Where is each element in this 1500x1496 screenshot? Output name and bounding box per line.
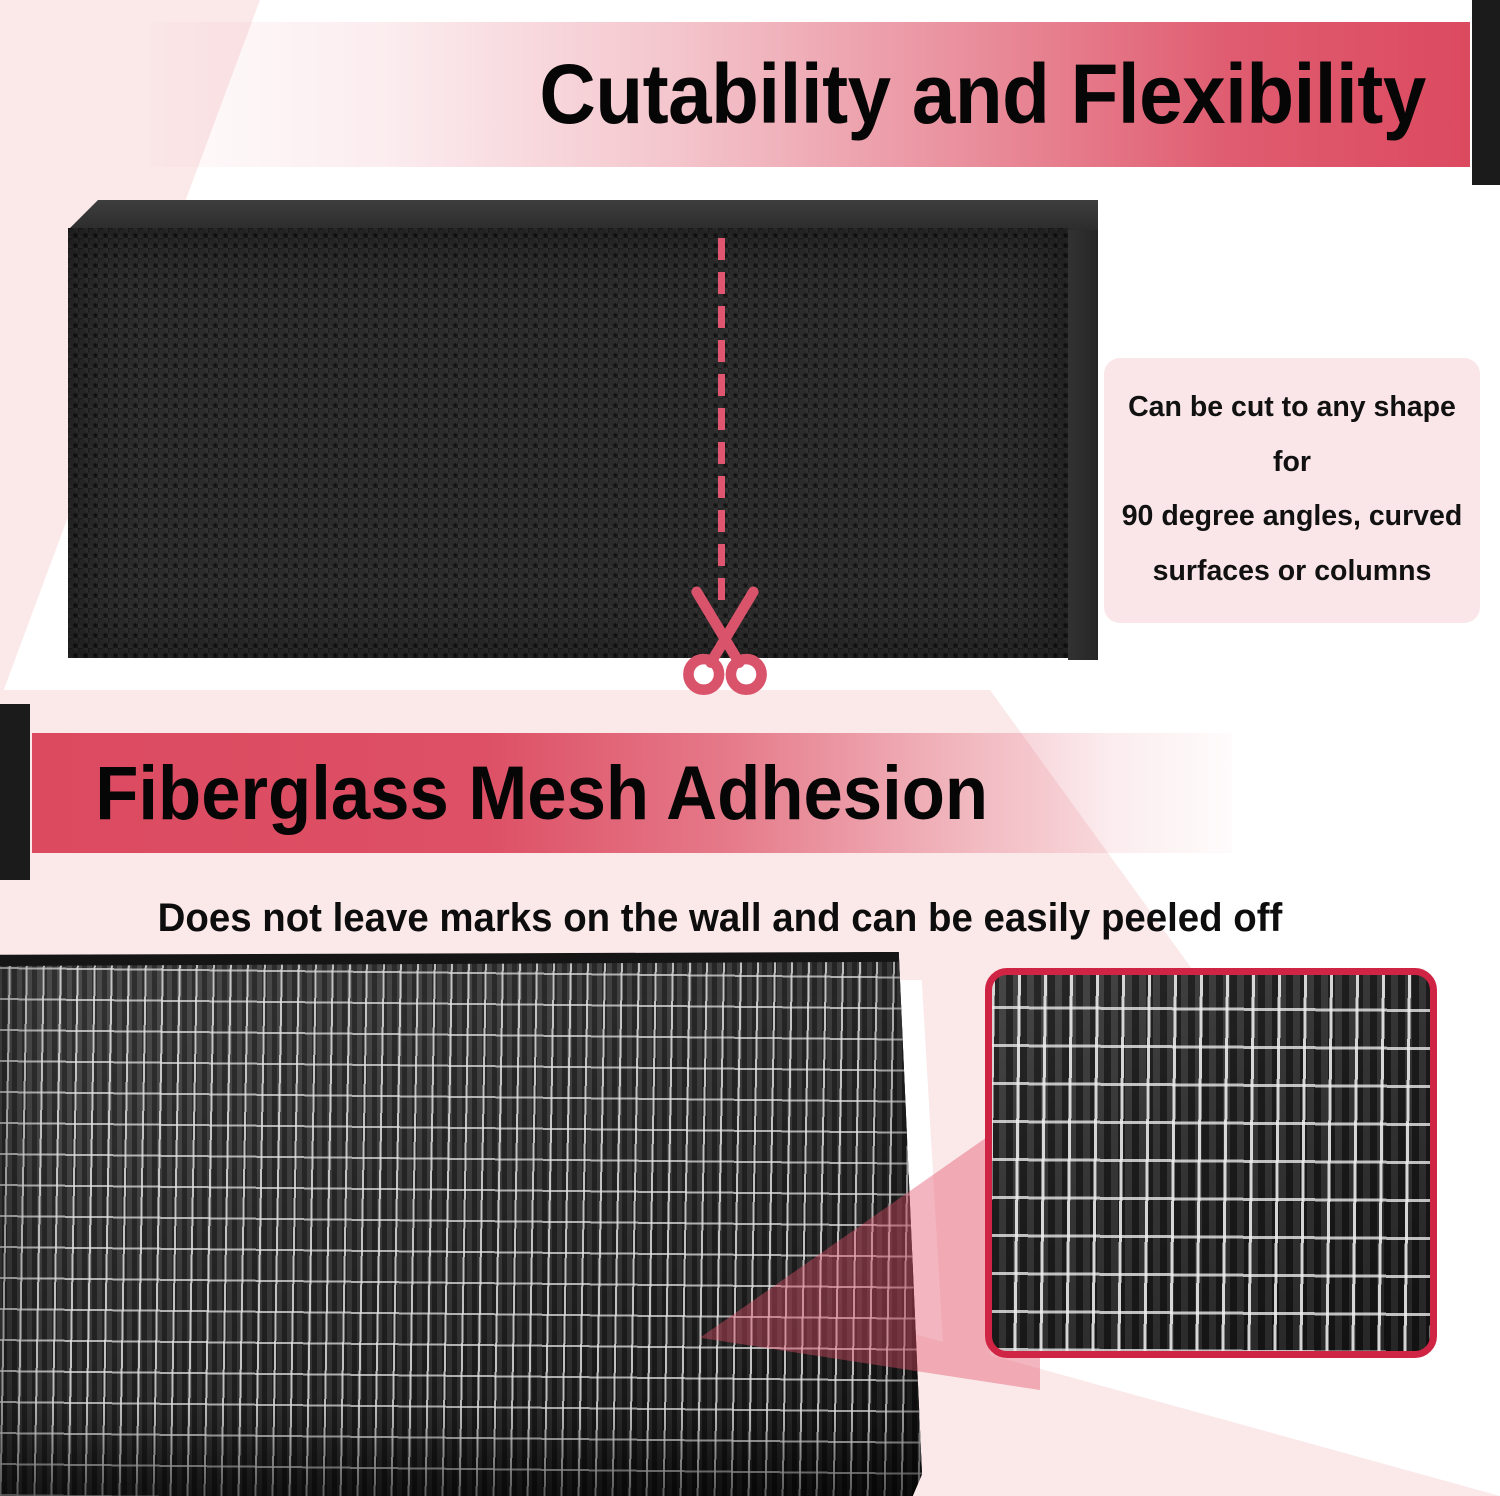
callout-line-2: 90 degree angles, curved xyxy=(1118,489,1466,544)
black-accent-bar-left xyxy=(0,704,30,880)
callout-line-3: surfaces or columns xyxy=(1118,544,1466,599)
section-two-title: Fiberglass Mesh Adhesion xyxy=(32,733,1148,853)
acoustic-foam-panel xyxy=(68,200,1098,660)
foam-panel-side-face xyxy=(1068,200,1098,660)
cutability-callout: Can be cut to any shape for 90 degree an… xyxy=(1104,358,1480,623)
black-accent-bar-right xyxy=(1472,0,1500,185)
callout-line-1: Can be cut to any shape for xyxy=(1118,380,1466,489)
dashed-cut-line-icon xyxy=(718,238,725,610)
section-two-subtitle: Does not leave marks on the wall and can… xyxy=(29,896,1411,941)
fiberglass-mesh-closeup-inset xyxy=(985,968,1437,1358)
section-one-title: Cutability and Flexibility xyxy=(241,22,1450,167)
foam-panel-top-face xyxy=(68,200,1098,230)
foam-panel-front-face xyxy=(68,228,1068,658)
scissors-icon xyxy=(666,580,784,698)
fiberglass-mesh-photo xyxy=(0,952,922,1496)
section-one-banner: Cutability and Flexibility xyxy=(0,22,1470,167)
infographic-page: Cutability and Flexibility Can be cut to… xyxy=(0,0,1500,1496)
